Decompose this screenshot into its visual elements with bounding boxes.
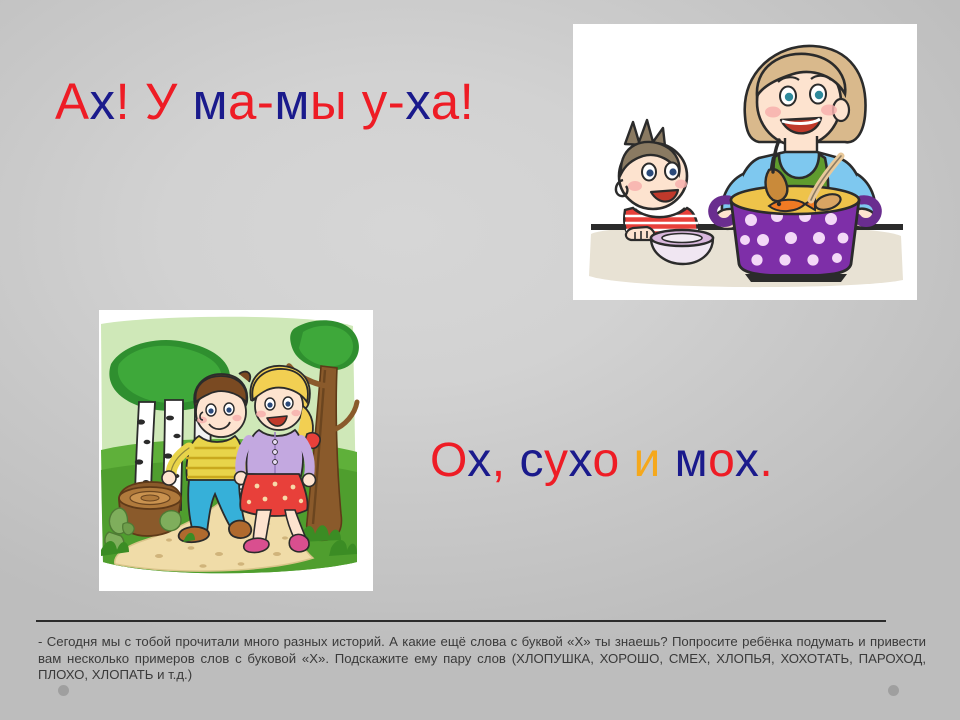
headline-letter: а [228, 73, 257, 130]
headline-letter: А [55, 73, 90, 130]
headline-letter [178, 73, 193, 130]
children-walking-in-forest-illustration [99, 310, 373, 591]
headline-letter: а [431, 73, 460, 130]
headline-letter: х [90, 73, 116, 130]
decorative-dot-right [888, 685, 899, 696]
headline-letter [620, 434, 634, 487]
headline-letter [506, 434, 520, 487]
headline-letter: , [492, 434, 506, 487]
headline-letter: м [675, 434, 709, 487]
headline-letter: - [388, 73, 405, 130]
headline-letter: м [274, 73, 310, 130]
decorative-dot-left [58, 685, 69, 696]
headline-letter: х [467, 434, 492, 487]
headline-letter: о [708, 434, 735, 487]
headline-letter: у [362, 73, 388, 130]
headline-oh-suho-i-moh: Ох, сухо и мох. [430, 437, 773, 485]
caption-text: - Сегодня мы с тобой прочитали много раз… [38, 634, 926, 684]
headline-letter [130, 73, 145, 130]
headline-letter: х [405, 73, 430, 130]
slide-canvas: Ах! У ма-мы у-ха! Ох, сухо и мох. [0, 0, 960, 720]
headline-letter: ! [116, 73, 131, 130]
headline-letter: х [735, 434, 760, 487]
headline-letter: х [568, 434, 592, 487]
caption-divider [36, 620, 886, 622]
headline-letter: о [592, 434, 619, 487]
headline-letter [661, 434, 675, 487]
headline-letter: - [257, 73, 274, 130]
headline-letter: . [759, 434, 773, 487]
headline-letter: с [519, 434, 544, 487]
mother-cooking-fish-soup-illustration [573, 24, 917, 300]
headline-letter [347, 73, 362, 130]
headline-letter: У [145, 73, 178, 130]
headline-letter: и [634, 434, 661, 487]
headline-letter: ы [310, 73, 347, 130]
headline-letter: О [430, 434, 467, 487]
headline-letter: у [544, 434, 569, 487]
headline-ah-u-mamy-uha: Ах! У ма-мы у-ха! [55, 76, 474, 127]
headline-letter: ! [460, 73, 475, 130]
headline-letter: м [192, 73, 228, 130]
